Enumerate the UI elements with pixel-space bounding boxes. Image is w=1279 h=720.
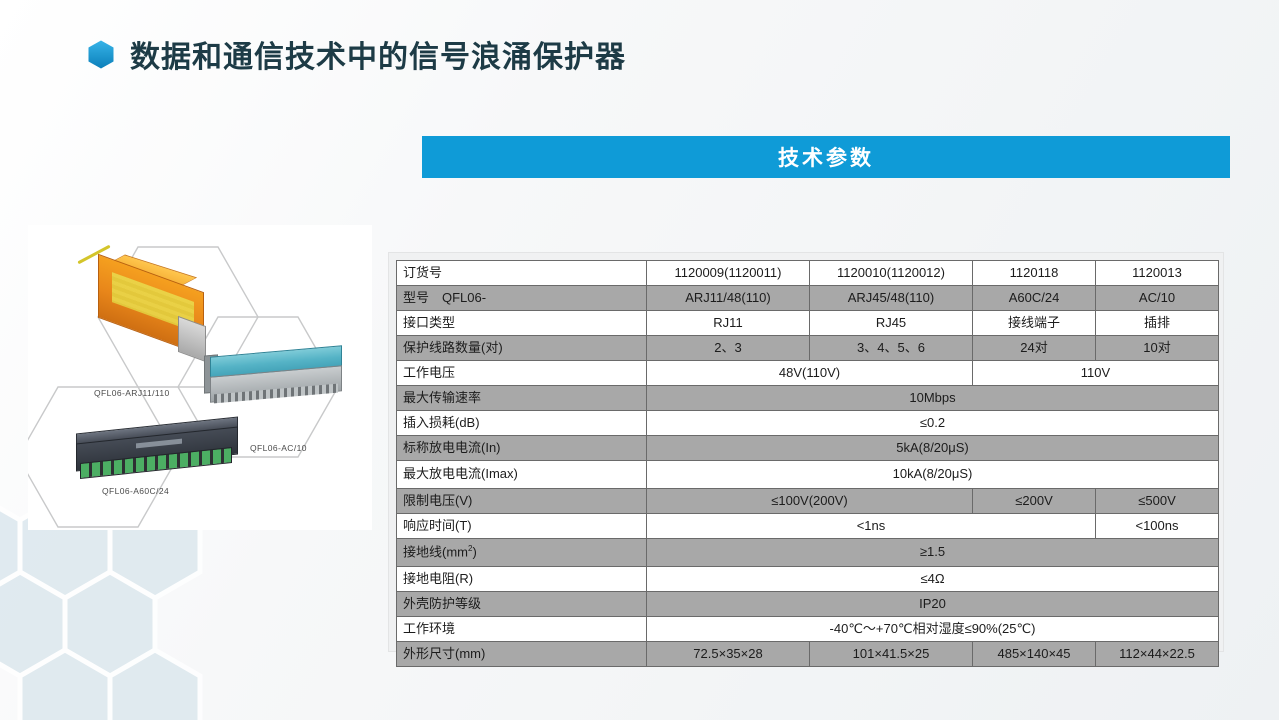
table-cell: 1120010(1120012) [810,261,973,286]
section-banner-label: 技术参数 [778,142,874,172]
table-cell: 插排 [1096,311,1219,336]
table-cell: <1ns [647,514,1096,539]
table-cell: ≤500V [1096,489,1219,514]
product-label-ac10: QFL06-AC/10 [250,443,307,453]
spec-table: 订货号1120009(1120011)1120010(1120012)11201… [396,260,1219,667]
table-cell: IP20 [647,592,1219,617]
table-row: 最大传输速率10Mbps [397,386,1219,411]
table-row: 外壳防护等级IP20 [397,592,1219,617]
table-cell: AC/10 [1096,286,1219,311]
row-label: 最大传输速率 [397,386,647,411]
spec-table-body: 订货号1120009(1120011)1120010(1120012)11201… [397,261,1219,667]
table-row: 外形尺寸(mm)72.5×35×28101×41.5×25485×140×451… [397,642,1219,667]
table-cell: ≤200V [973,489,1096,514]
table-cell: ≥1.5 [647,539,1219,567]
table-cell: 5kA(8/20μS) [647,436,1219,461]
table-cell: 10对 [1096,336,1219,361]
product-label-arj11: QFL06-ARJ11/110 [94,388,170,398]
row-label: 标称放电电流(In) [397,436,647,461]
table-cell: 1120009(1120011) [647,261,810,286]
hexagon-icon [88,40,114,69]
product-photo-card: QFL06-ARJ11/110 QFL06-AC/10 QFL06-A60C/2… [28,225,372,530]
row-label: 接地线(mm2) [397,539,647,567]
row-label: 工作电压 [397,361,647,386]
table-cell: 112×44×22.5 [1096,642,1219,667]
table-cell: ≤4Ω [647,567,1219,592]
row-label: 限制电压(V) [397,489,647,514]
table-cell: 48V(110V) [647,361,973,386]
row-label: 保护线路数量(对) [397,336,647,361]
page-title-text: 数据和通信技术中的信号浪涌保护器 [130,32,626,76]
table-cell: 24对 [973,336,1096,361]
table-row: 接口类型RJ11RJ45接线端子插排 [397,311,1219,336]
table-cell: RJ11 [647,311,810,336]
row-label: 型号 QFL06- [397,286,647,311]
table-row: 插入损耗(dB)≤0.2 [397,411,1219,436]
table-cell: 101×41.5×25 [810,642,973,667]
table-cell: 10Mbps [647,386,1219,411]
table-cell: 1120118 [973,261,1096,286]
table-row: 标称放电电流(In)5kA(8/20μS) [397,436,1219,461]
table-cell: ≤0.2 [647,411,1219,436]
table-row: 接地线(mm2)≥1.5 [397,539,1219,567]
table-cell: ARJ11/48(110) [647,286,810,311]
row-label: 响应时间(T) [397,514,647,539]
table-cell: <100ns [1096,514,1219,539]
page-title: 数据和通信技术中的信号浪涌保护器 [88,32,626,76]
table-cell: 接线端子 [973,311,1096,336]
section-banner: 技术参数 [422,136,1230,178]
row-label: 工作环境 [397,617,647,642]
table-row: 工作环境-40℃～+70℃相对湿度≤90%(25℃) [397,617,1219,642]
table-row: 限制电压(V)≤100V(200V)≤200V≤500V [397,489,1219,514]
table-row: 保护线路数量(对)2、33、4、5、624对10对 [397,336,1219,361]
row-label: 插入损耗(dB) [397,411,647,436]
table-cell: 1120013 [1096,261,1219,286]
table-cell: A60C/24 [973,286,1096,311]
table-cell: RJ45 [810,311,973,336]
row-label: 外形尺寸(mm) [397,642,647,667]
row-label: 外壳防护等级 [397,592,647,617]
table-cell: 110V [973,361,1219,386]
table-row: 订货号1120009(1120011)1120010(1120012)11201… [397,261,1219,286]
row-label: 最大放电电流(Imax) [397,461,647,489]
table-row: 最大放电电流(Imax)10kA(8/20μS) [397,461,1219,489]
table-cell: 485×140×45 [973,642,1096,667]
slide-canvas: 数据和通信技术中的信号浪涌保护器 技术参数 QFL06-ARJ11/110 [0,0,1279,720]
row-label: 接地电阻(R) [397,567,647,592]
table-cell: 3、4、5、6 [810,336,973,361]
table-row: 接地电阻(R)≤4Ω [397,567,1219,592]
table-cell: -40℃～+70℃相对湿度≤90%(25℃) [647,617,1219,642]
table-cell: ARJ45/48(110) [810,286,973,311]
table-row: 工作电压48V(110V)110V [397,361,1219,386]
table-row: 型号 QFL06-ARJ11/48(110)ARJ45/48(110)A60C/… [397,286,1219,311]
product-label-a60c24: QFL06-A60C/24 [102,486,169,496]
table-cell: 10kA(8/20μS) [647,461,1219,489]
row-label: 订货号 [397,261,647,286]
table-row: 响应时间(T)<1ns<100ns [397,514,1219,539]
table-cell: 72.5×35×28 [647,642,810,667]
row-label: 接口类型 [397,311,647,336]
table-cell: ≤100V(200V) [647,489,973,514]
table-cell: 2、3 [647,336,810,361]
